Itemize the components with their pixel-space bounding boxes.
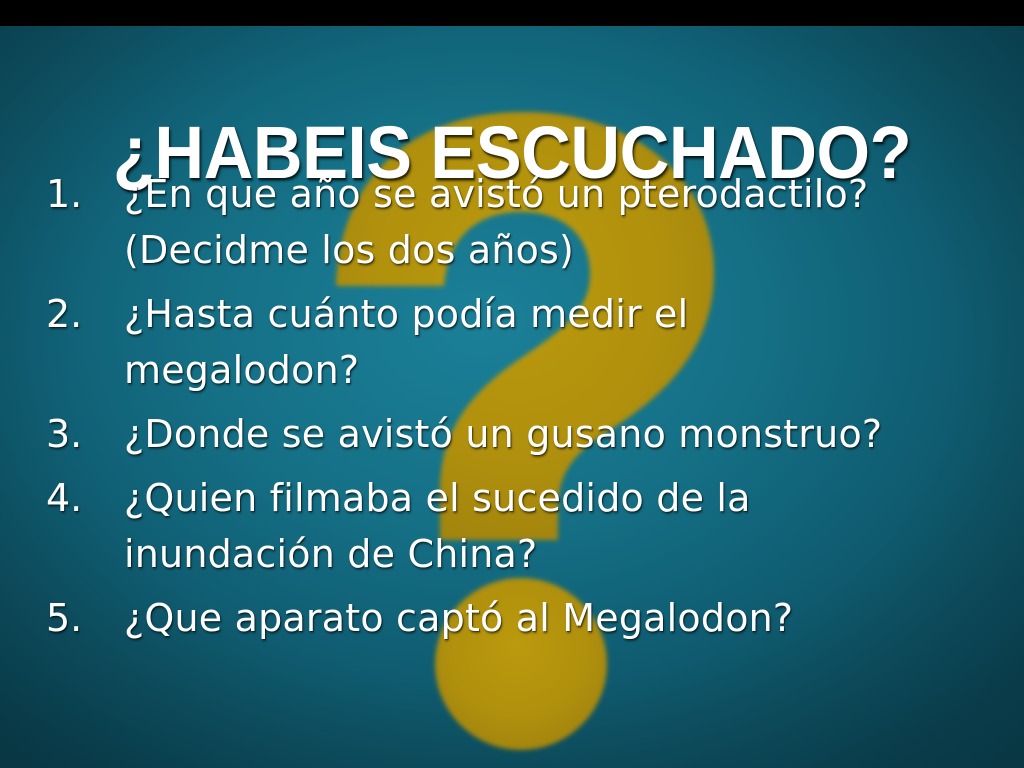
- list-item-number: 1.: [46, 166, 124, 222]
- questions-list: 1. ¿En que año se avistó un pterodactilo…: [46, 166, 986, 646]
- list-item-line-1: ¿Hasta cuánto podía medir el: [124, 292, 688, 336]
- list-item-line-2: megalodon?: [124, 342, 986, 398]
- list-item-text: ¿Donde se avistó un gusano monstruo?: [124, 406, 986, 462]
- list-item-text: ¿En que año se avistó un pterodactilo? (…: [124, 166, 986, 278]
- list-item-text: ¿Que aparato captó al Megalodon?: [124, 590, 986, 646]
- list-item-text: ¿Quien filmaba el sucedido de la inundac…: [124, 470, 986, 582]
- list-item-number: 4.: [46, 470, 124, 526]
- list-item-number: 3.: [46, 406, 124, 462]
- list-item-line-2: inundación de China?: [124, 526, 986, 582]
- list-item: 2. ¿Hasta cuánto podía medir el megalodo…: [46, 286, 986, 398]
- slide-canvas: ¿HABEIS ESCUCHADO? 1. ¿En que año se avi…: [0, 0, 1024, 768]
- list-item-line-1: ¿Quien filmaba el sucedido de la: [124, 476, 751, 520]
- slide-content: ¿HABEIS ESCUCHADO? 1. ¿En que año se avi…: [0, 0, 1024, 768]
- list-item-number: 2.: [46, 286, 124, 342]
- list-item-text: ¿Hasta cuánto podía medir el megalodon?: [124, 286, 986, 398]
- list-item-number: 5.: [46, 590, 124, 646]
- list-item-line-2: (Decidme los dos años): [124, 222, 986, 278]
- letterbox-bar-top: [0, 0, 1024, 26]
- list-item: 5. ¿Que aparato captó al Megalodon?: [46, 590, 986, 646]
- list-item: 4. ¿Quien filmaba el sucedido de la inun…: [46, 470, 986, 582]
- list-item-line-1: ¿Que aparato captó al Megalodon?: [124, 596, 793, 640]
- list-item: 1. ¿En que año se avistó un pterodactilo…: [46, 166, 986, 278]
- list-item-line-1: ¿Donde se avistó un gusano monstruo?: [124, 412, 882, 456]
- list-item: 3. ¿Donde se avistó un gusano monstruo?: [46, 406, 986, 462]
- list-item-line-1: ¿En que año se avistó un pterodactilo?: [124, 172, 868, 216]
